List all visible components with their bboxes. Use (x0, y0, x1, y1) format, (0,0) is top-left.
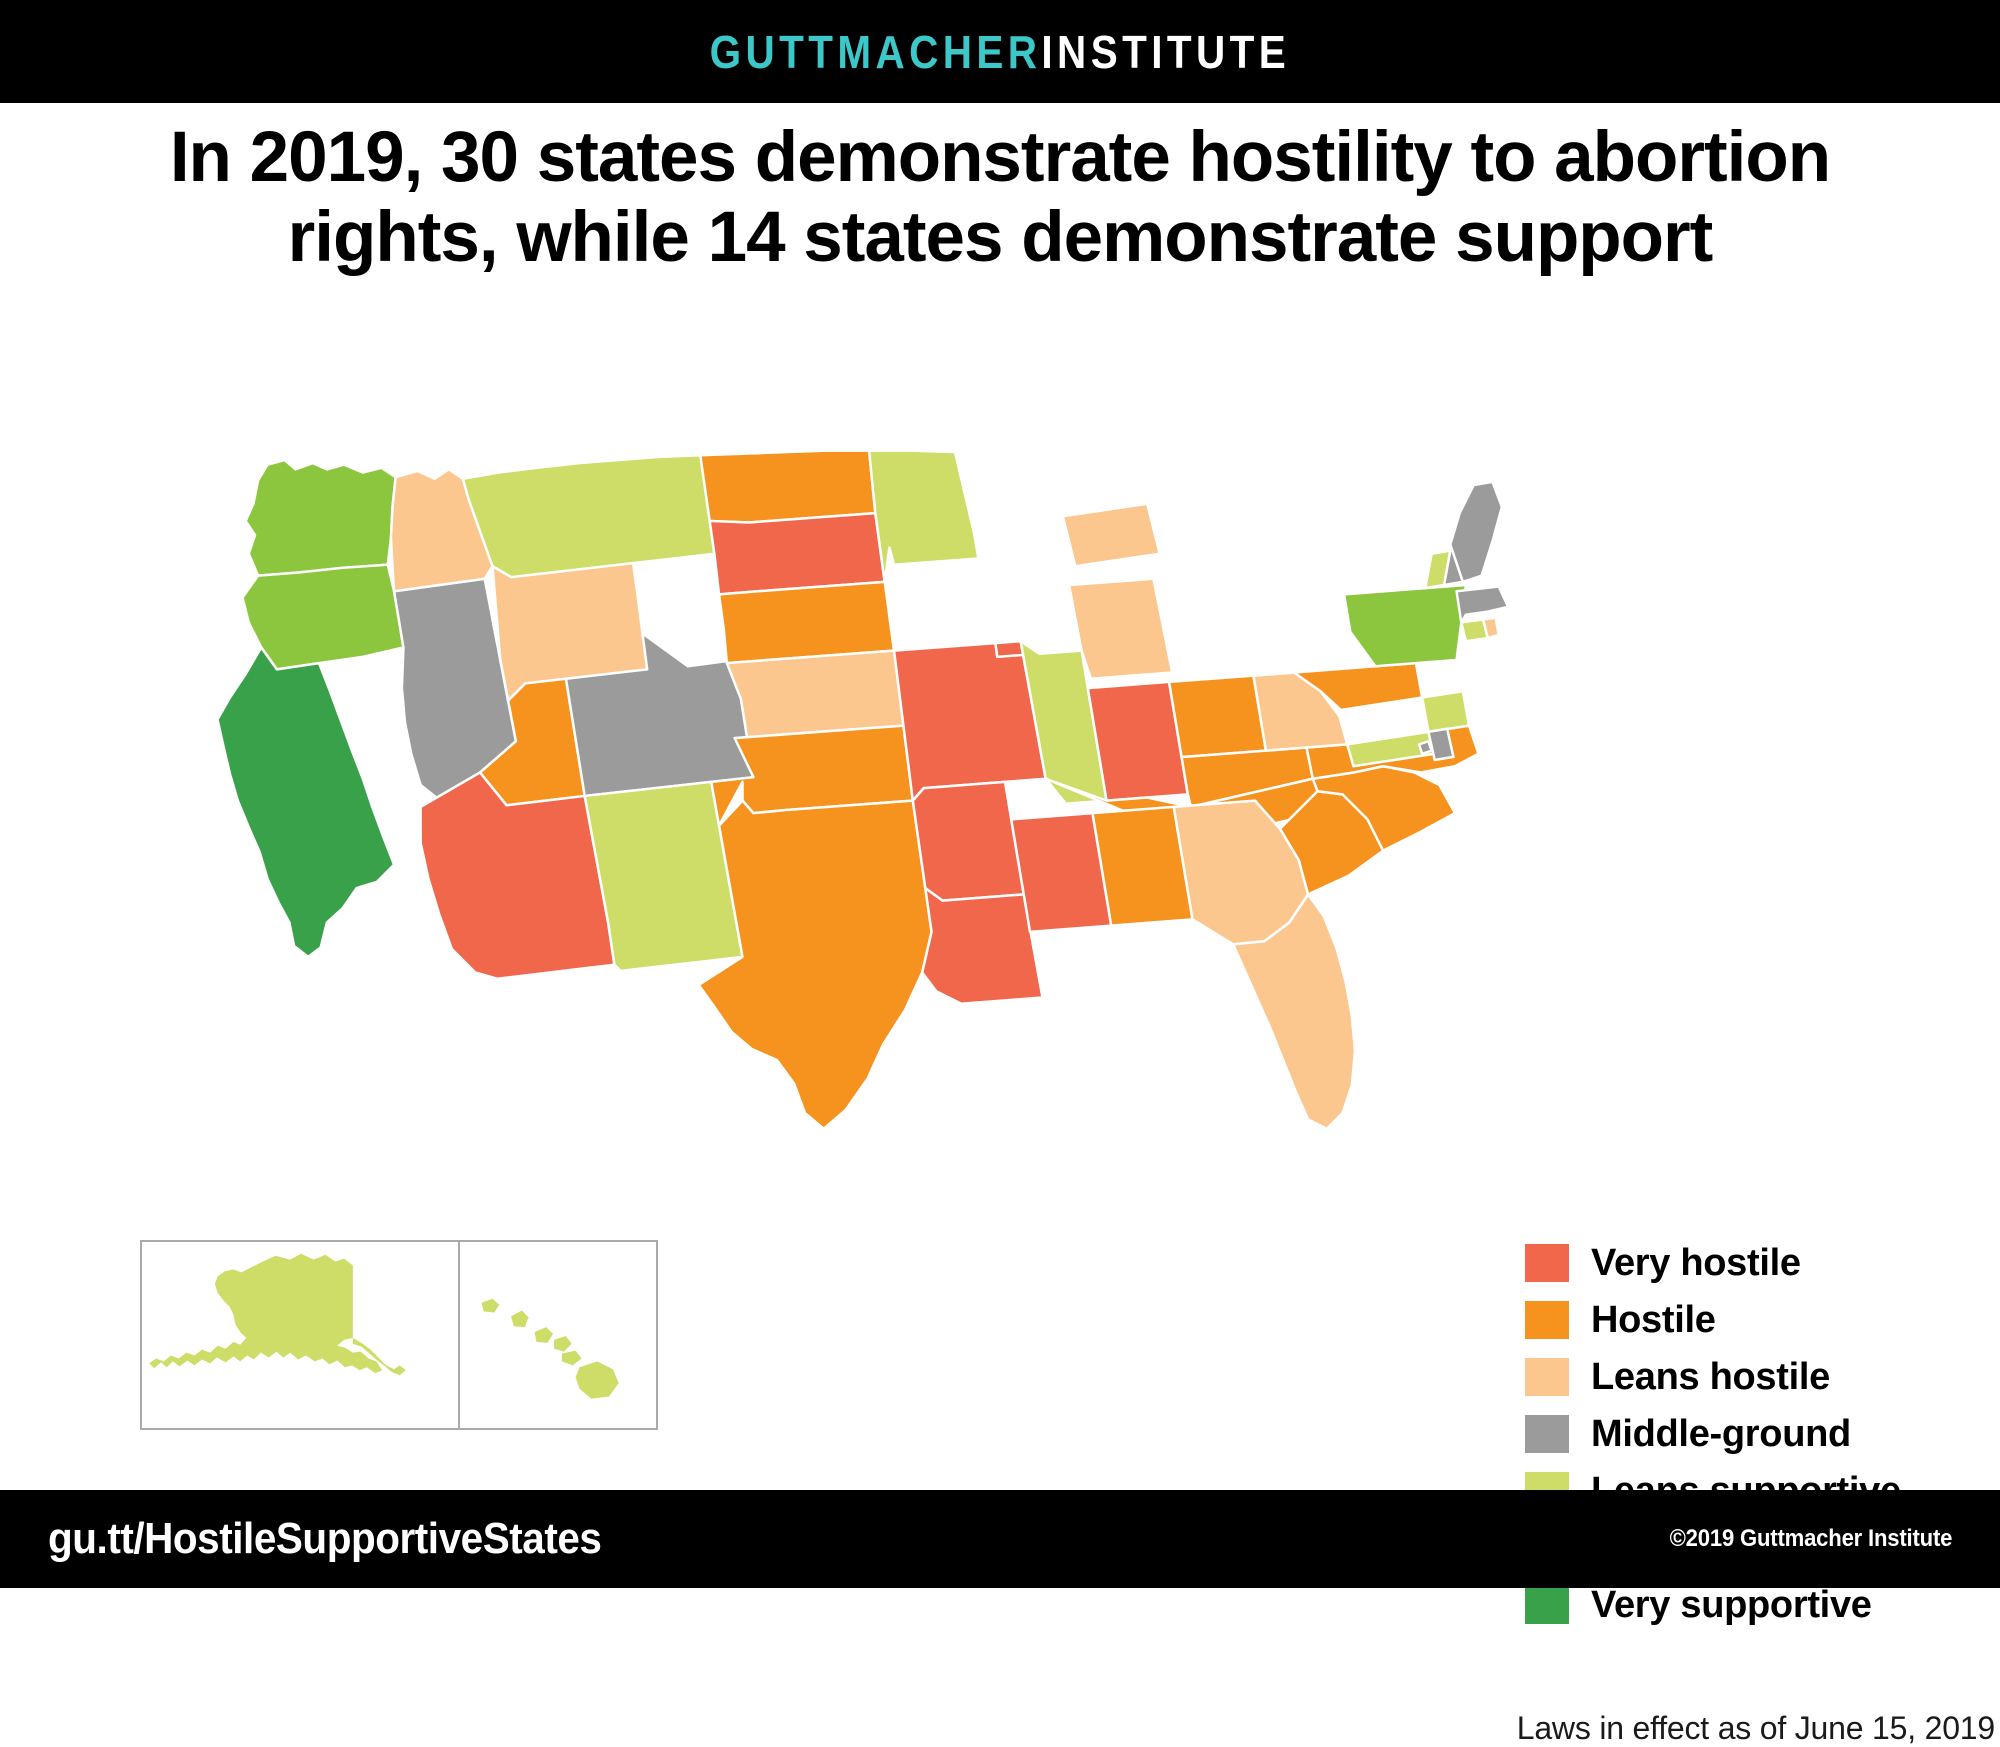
state-AK[interactable] (149, 1254, 382, 1373)
state-OH[interactable] (1169, 676, 1266, 757)
bottom-footer-bar: gu.tt/HostileSupportiveStates ©2019 Gutt… (0, 1490, 2000, 1588)
state-NE[interactable] (719, 582, 894, 663)
state-SD[interactable] (710, 513, 885, 594)
legend-item-middle-ground: Middle-ground (1525, 1411, 1975, 1457)
footer-copyright: ©2019 Guttmacher Institute (1669, 1525, 1952, 1553)
state-MT[interactable] (463, 455, 715, 577)
state-ME[interactable] (1450, 482, 1502, 582)
as-of-note: Laws in effect as of June 15, 2019 (1395, 1710, 1995, 1747)
state-HI-island (576, 1361, 619, 1398)
state-MN[interactable] (869, 451, 978, 582)
legend-label-leans-hostile: Leans hostile (1591, 1356, 1830, 1399)
hawaii-inset-svg (460, 1242, 656, 1428)
state-CA[interactable] (218, 648, 395, 957)
brand-logo: GUTTMACHERINSTITUTE (710, 25, 1291, 79)
state-HI-island (535, 1327, 554, 1343)
us-map-svg (30, 350, 1530, 1370)
legend-item-very-supportive: Very supportive (1525, 1582, 1975, 1628)
legend-item-very-hostile: Very hostile (1525, 1240, 1975, 1286)
legend-label-middle-ground: Middle-ground (1591, 1413, 1851, 1456)
state-ND[interactable] (700, 451, 875, 523)
state-WI[interactable] (978, 552, 1081, 657)
state-NY[interactable] (1344, 585, 1466, 666)
legend-label-hostile: Hostile (1591, 1299, 1716, 1342)
state-HI-island (511, 1311, 529, 1328)
top-brand-bar: GUTTMACHERINSTITUTE (0, 0, 2000, 103)
legend-item-leans-hostile: Leans hostile (1525, 1354, 1975, 1400)
state-IA[interactable] (889, 585, 987, 651)
page-title-line-2: rights, while 14 states demonstrate supp… (40, 198, 1960, 278)
alaska-inset-svg (142, 1242, 458, 1428)
state-TX[interactable] (699, 801, 932, 1129)
state-HI[interactable] (482, 1299, 619, 1399)
legend-item-hostile: Hostile (1525, 1297, 1975, 1343)
legend-swatch-middle-ground (1525, 1415, 1569, 1453)
state-NJ[interactable] (1422, 691, 1469, 732)
legend-swatch-very-hostile (1525, 1244, 1569, 1282)
brand-secondary-text: INSTITUTE (1042, 26, 1291, 78)
legend-label-very-supportive: Very supportive (1591, 1584, 1872, 1627)
map-stage: Very hostile Hostile Leans hostile Middl… (0, 340, 2000, 1450)
page-title-line-1: In 2019, 30 states demonstrate hostility… (170, 118, 1830, 197)
state-HI-island (562, 1351, 582, 1366)
state-HI-island (554, 1336, 572, 1352)
footer-short-url[interactable]: gu.tt/HostileSupportiveStates (48, 1514, 601, 1564)
legend-swatch-very-supportive (1525, 1586, 1569, 1624)
state-WA[interactable] (246, 460, 396, 576)
state-AR[interactable] (913, 782, 1024, 901)
state-DC[interactable] (1419, 741, 1432, 754)
alaska-inset (140, 1240, 460, 1430)
legend-swatch-hostile (1525, 1301, 1569, 1339)
page-title: In 2019, 30 states demonstrate hostility… (0, 118, 2000, 278)
us-choropleth-map (30, 350, 1530, 1370)
state-KS[interactable] (727, 651, 904, 739)
state-MO[interactable] (894, 641, 1046, 800)
legend-label-very-hostile: Very hostile (1591, 1242, 1801, 1285)
state-MA[interactable] (1457, 587, 1509, 623)
state-HI-island (482, 1299, 500, 1313)
legend-swatch-leans-hostile (1525, 1358, 1569, 1396)
brand-primary-text: GUTTMACHER (710, 26, 1042, 78)
hawaii-inset (458, 1240, 658, 1430)
